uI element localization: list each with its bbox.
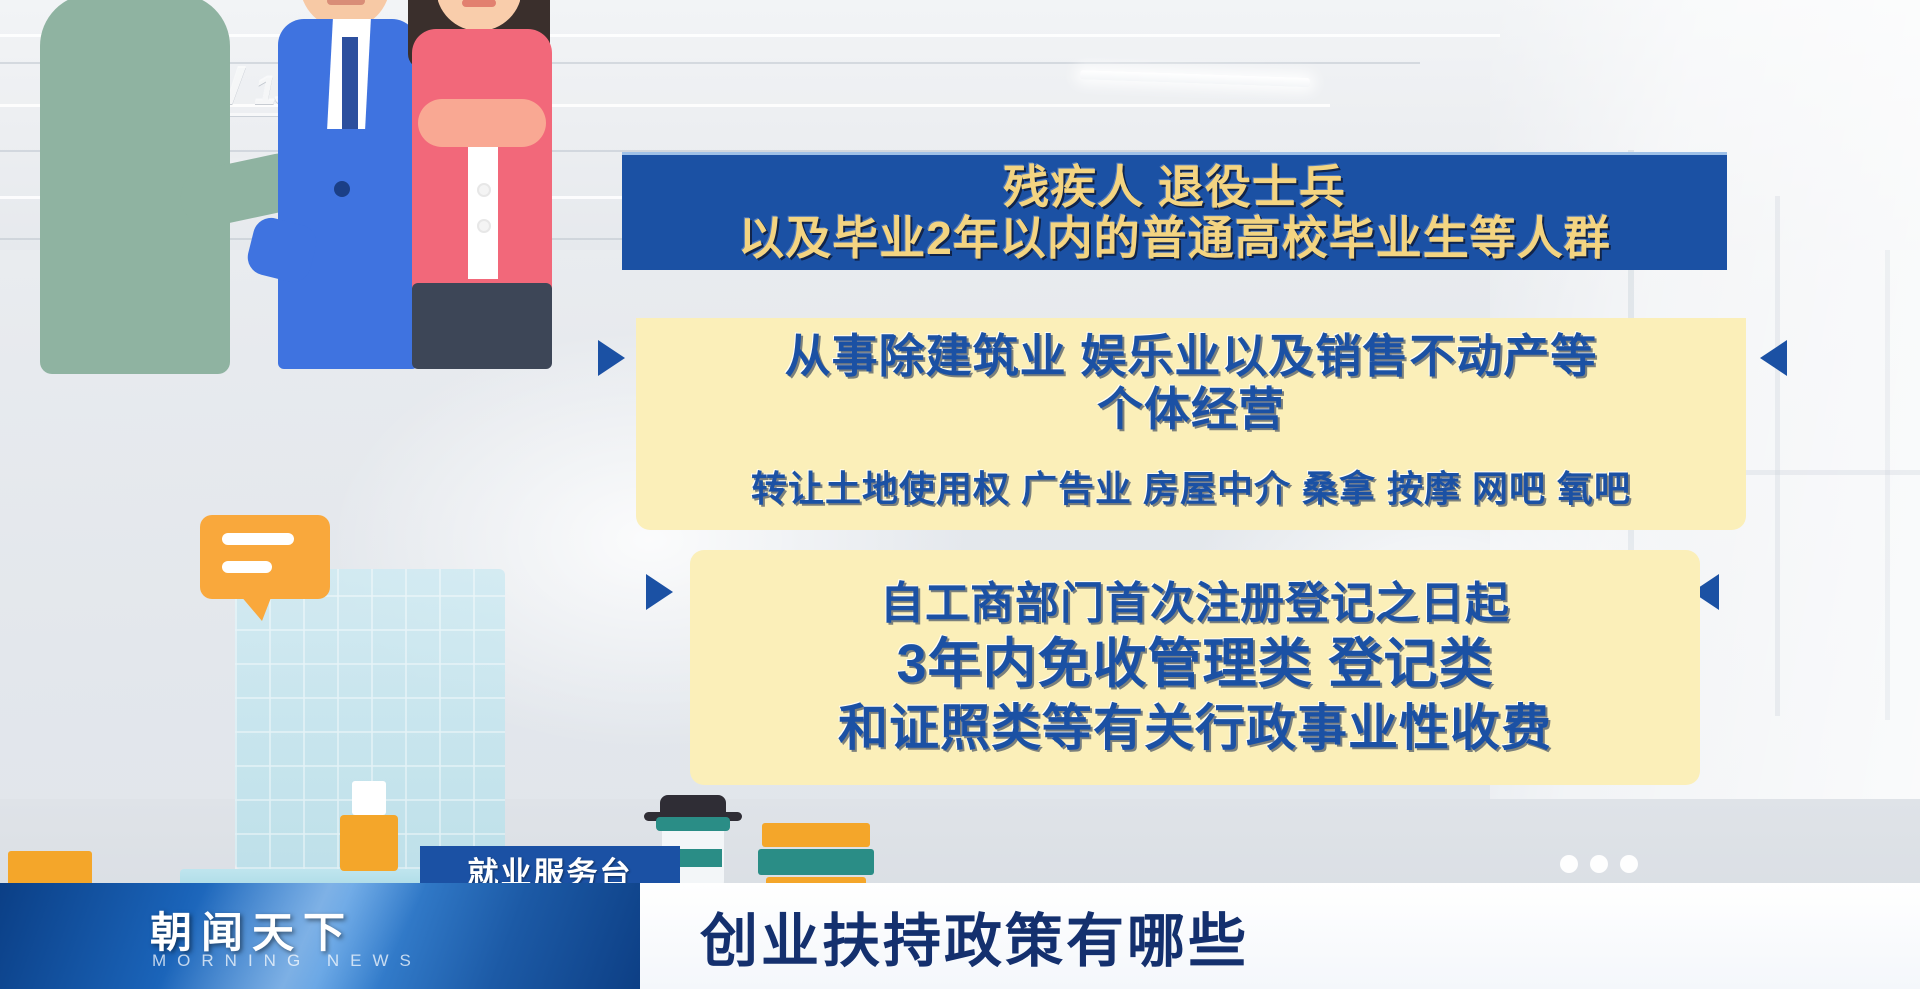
program-name-en: MORNING NEWS [152,951,422,971]
panel-eligibility: 残疾人 退役士兵 以及毕业2年以内的普通高校毕业生等人群 [622,152,1727,270]
book [762,823,870,847]
panel-fee-waiver: 自工商部门首次注册登记之日起 3年内免收管理类 登记类 和证照类等有关行政事业性… [690,550,1700,785]
speech-bubble-tail [240,595,272,621]
arrow-left-marker-fee [646,574,673,610]
coffee-lid [656,817,730,831]
panel-fee-waiver-line-3: 和证照类等有关行政事业性收费 [838,697,1552,759]
window-frame [1775,196,1780,716]
note-block [340,815,398,871]
panel-business-scope-line-1: 从事除建筑业 娱乐业以及销售不动产等 [785,330,1598,382]
broadcast-frame: CCTV 13 新闻 [0,0,1920,989]
panel-fee-waiver-line-1: 自工商部门首次注册登记之日起 [880,577,1510,631]
decor-dots [1560,855,1920,915]
bubble-line [222,561,272,573]
decor-dot [1590,855,1608,873]
panel-fee-waiver-line-2: 3年内免收管理类 登记类 [896,631,1493,697]
headline-text: 创业扶持政策有哪些 [700,894,1249,978]
decor-dot [1560,855,1578,873]
panel-eligibility-line-2: 以及毕业2年以内的普通高校毕业生等人群 [738,212,1611,264]
arrow-right-marker-scope [1760,340,1787,376]
panel-excluded-list-line-1: 转让土地使用权 广告业 房屋中介 桑拿 按摩 网吧 氧吧 [751,469,1631,509]
panel-business-scope: 从事除建筑业 娱乐业以及销售不动产等 个体经营 [636,318,1746,448]
note-paper [352,781,386,815]
panel-business-scope-line-2: 个体经营 [1097,382,1285,436]
bubble-line [222,533,294,545]
speech-bubble [200,515,330,599]
panel-eligibility-line-1: 残疾人 退役士兵 [1003,162,1346,212]
arrow-left-marker-scope [598,340,625,376]
book [758,849,874,875]
panel-excluded-list: 转让土地使用权 广告业 房屋中介 桑拿 按摩 网吧 氧吧 [636,448,1746,530]
decor-dot [1620,855,1638,873]
window-frame [1885,250,1890,720]
lower-third: 朝闻天下 MORNING NEWS 创业扶持政策有哪些 [0,883,1920,989]
